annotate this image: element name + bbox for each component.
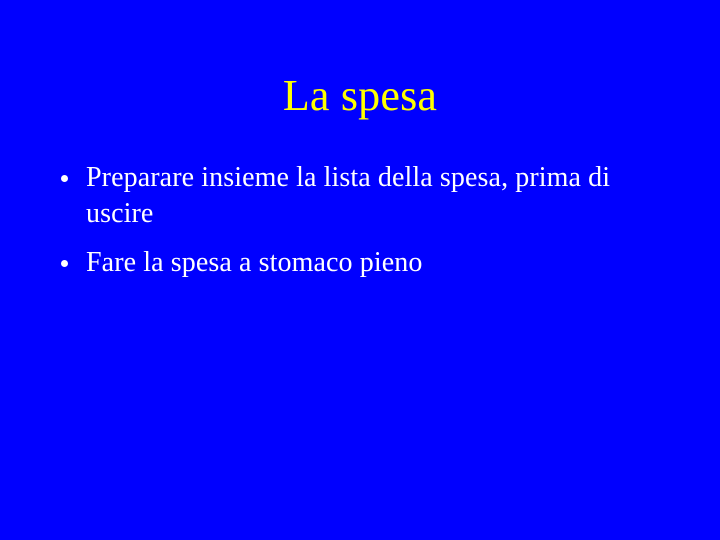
list-item-label: Preparare insieme la lista della spesa, … bbox=[86, 160, 676, 232]
page-title: La spesa bbox=[0, 72, 720, 120]
list-item: Fare la spesa a stomaco pieno bbox=[56, 245, 676, 281]
presentation-slide: La spesa Preparare insieme la lista dell… bbox=[0, 0, 720, 540]
list-item: Preparare insieme la lista della spesa, … bbox=[56, 160, 676, 232]
bullet-point-icon bbox=[61, 175, 68, 182]
bullet-point-icon bbox=[61, 260, 68, 267]
list-item-label: Fare la spesa a stomaco pieno bbox=[86, 245, 676, 281]
slide-body-content: Preparare insieme la lista della spesa, … bbox=[56, 160, 676, 281]
